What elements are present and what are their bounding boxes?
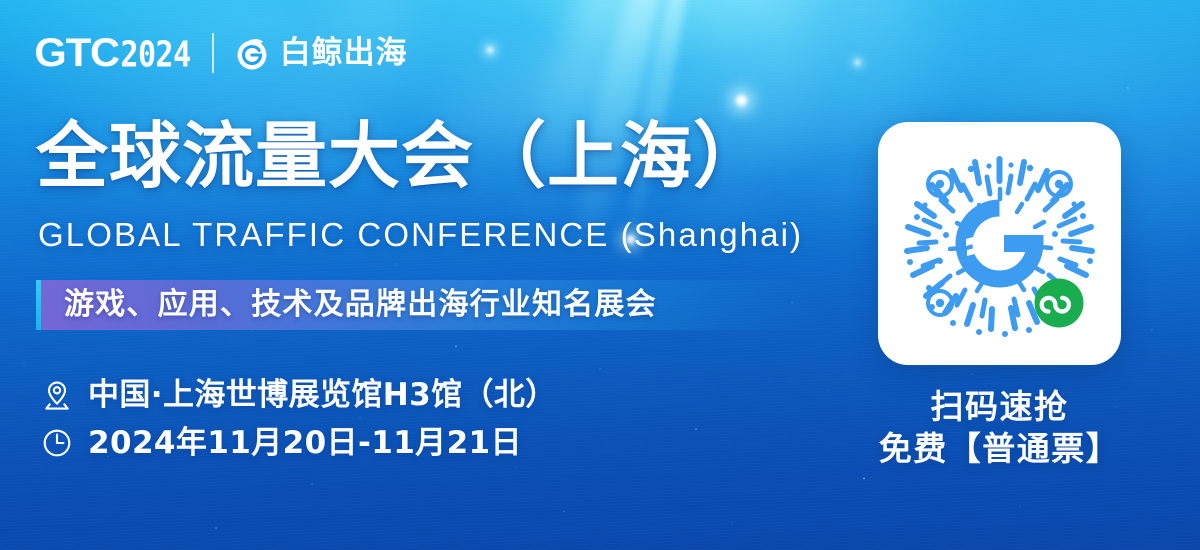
baijing-name: 白鲸出海 [280, 38, 408, 69]
wechat-miniprogram-badge-icon [1035, 279, 1084, 328]
hero-title-en: GLOBAL TRAFFIC CONFERENCE (Shanghai) [38, 218, 803, 251]
event-info: 中国·上海世博展览馆H3馆（北） 2024年11月20日-11月21日 [40, 378, 557, 474]
clock-icon [40, 426, 74, 460]
baijing-logo: 白鲸出海 [233, 34, 408, 72]
qr-caption-line-1: 扫码速抢 [858, 386, 1141, 428]
qr-caption-line-2: 免费【普通票】 [858, 428, 1141, 470]
glow-dot [855, 60, 860, 65]
date-text: 2024年11月20日-11月21日 [88, 428, 522, 459]
qr-center-g-logo [964, 208, 1035, 279]
gtc-logo: GTC 2024 [36, 33, 191, 73]
qr-code-panel[interactable] [878, 122, 1121, 365]
glow-dot [487, 47, 493, 53]
wechat-miniprogram-qr-icon[interactable] [887, 131, 1112, 356]
location-pin-icon [40, 378, 74, 412]
tagline-accent-bar [36, 280, 41, 330]
promo-banner: GTC 2024 白鲸出海 全球流量大会（上海） GLOBAL TRAFFIC … [0, 0, 1200, 550]
qr-caption: 扫码速抢 免费【普通票】 [858, 386, 1141, 469]
hero-title-cn: 全球流量大会（上海） [36, 118, 766, 194]
info-row-date: 2024年11月20日-11月21日 [40, 426, 557, 460]
gtc-wordmark: GTC [34, 33, 119, 73]
logo-row: GTC 2024 白鲸出海 [36, 33, 408, 73]
logo-divider [212, 33, 214, 73]
gtc-year: 2024 [120, 38, 190, 73]
whale-g-circle-icon [233, 34, 271, 72]
venue-text: 中国·上海世博展览馆H3馆（北） [88, 380, 557, 411]
info-row-venue: 中国·上海世博展览馆H3馆（北） [40, 378, 557, 412]
tagline-text: 游戏、应用、技术及品牌出海行业知名展会 [64, 290, 657, 320]
glow-dot [736, 95, 747, 106]
tagline-band: 游戏、应用、技术及品牌出海行业知名展会 [36, 280, 826, 330]
